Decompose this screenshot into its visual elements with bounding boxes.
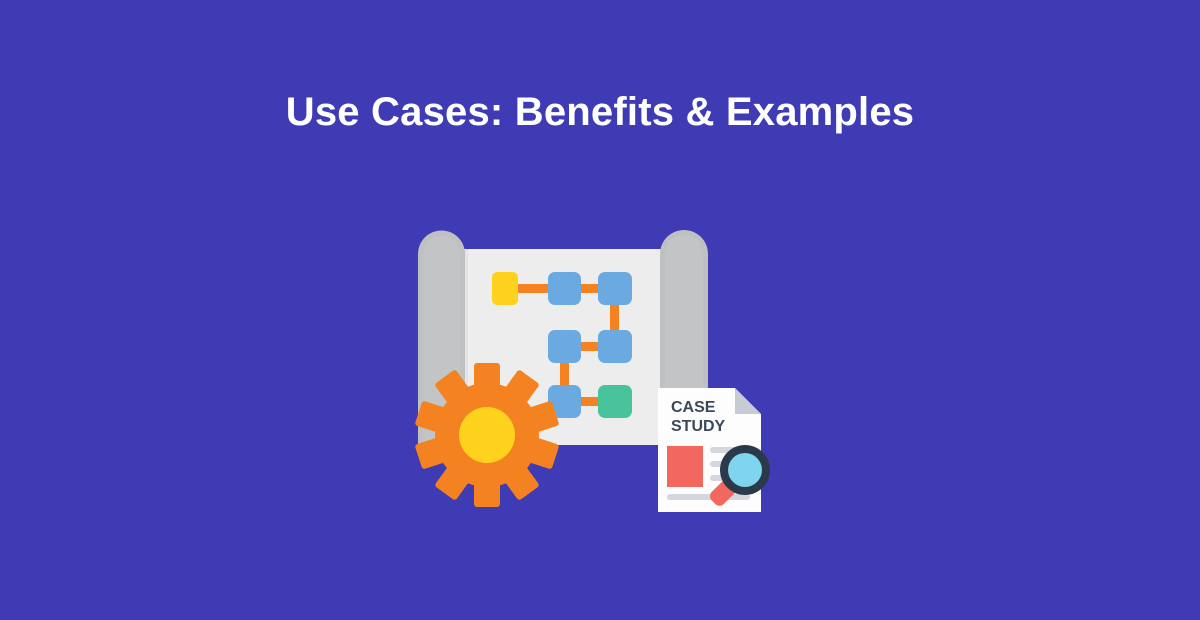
gear-icon bbox=[415, 363, 560, 507]
blueprint-roll-right bbox=[660, 230, 708, 388]
flow-node-start[interactable] bbox=[492, 272, 518, 305]
document-fold-corner-icon bbox=[735, 388, 761, 414]
gear-hub bbox=[459, 407, 515, 463]
flow-node-1[interactable] bbox=[548, 272, 581, 305]
document-image-block bbox=[667, 446, 703, 487]
magnifier-lens bbox=[728, 453, 762, 487]
banner-canvas: Use Cases: Benefits & Examples bbox=[0, 0, 1200, 620]
document-title-line-1: CASE bbox=[671, 399, 716, 416]
document-title-line-2: STUDY bbox=[671, 418, 726, 435]
document-text-line bbox=[667, 494, 750, 500]
flow-node-4[interactable] bbox=[598, 330, 632, 363]
flow-node-2[interactable] bbox=[598, 272, 632, 305]
use-cases-illustration: CASE STUDY bbox=[0, 0, 1200, 620]
flow-node-end[interactable] bbox=[598, 385, 632, 418]
flow-node-3[interactable] bbox=[548, 330, 581, 363]
